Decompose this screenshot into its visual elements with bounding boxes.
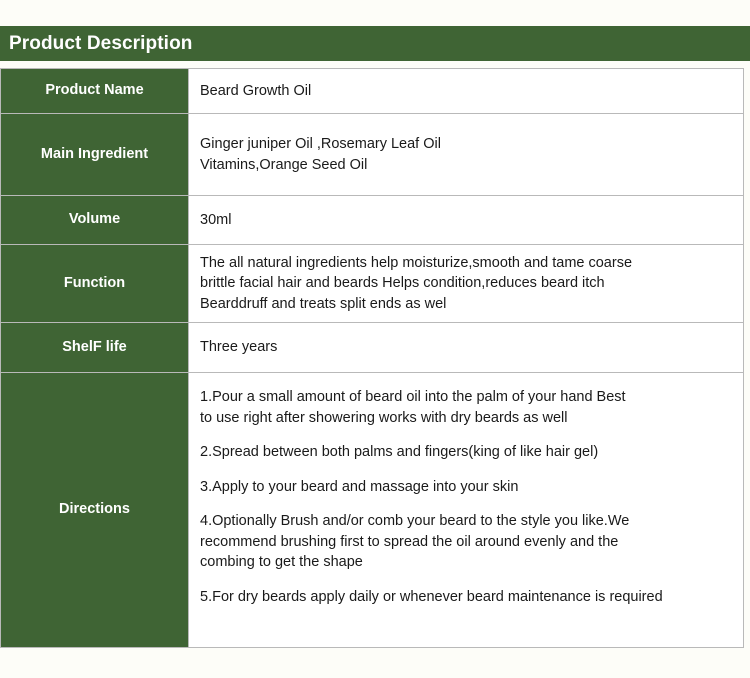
row-value-volume: 30ml bbox=[189, 196, 744, 245]
row-label-function: Function bbox=[1, 245, 189, 323]
direction-item: 3.Apply to your beard and massage into y… bbox=[200, 477, 743, 498]
value-text: 30ml bbox=[189, 204, 743, 237]
value-text: Beard Growth Oil bbox=[189, 75, 743, 108]
row-label-volume: Volume bbox=[1, 196, 189, 245]
label-text: Directions bbox=[1, 497, 188, 522]
row-value-main-ingredient: Ginger juniper Oil ,Rosemary Leaf Oil Vi… bbox=[189, 114, 744, 196]
row-value-product-name: Beard Growth Oil bbox=[189, 69, 744, 114]
row-label-main-ingredient: Main Ingredient bbox=[1, 114, 189, 196]
page-header-banner: Product Description bbox=[0, 26, 750, 61]
direction-item: 4.Optionally Brush and/or comb your bear… bbox=[200, 511, 743, 573]
table-row-shelf-life: ShelF life Three years bbox=[1, 323, 744, 373]
product-specification-table: Product Name Beard Growth Oil Main Ingre… bbox=[0, 68, 744, 648]
table-row-product-name: Product Name Beard Growth Oil bbox=[1, 69, 744, 114]
value-text: Ginger juniper Oil ,Rosemary Leaf Oil Vi… bbox=[189, 128, 743, 181]
row-label-directions: Directions bbox=[1, 373, 189, 648]
value-text: Three years bbox=[189, 331, 743, 364]
label-text: ShelF life bbox=[1, 335, 188, 360]
value-text: The all natural ingredients help moistur… bbox=[189, 247, 743, 321]
row-value-shelf-life: Three years bbox=[189, 323, 744, 373]
table-row-function: Function The all natural ingredients hel… bbox=[1, 245, 744, 323]
row-label-shelf-life: ShelF life bbox=[1, 323, 189, 373]
label-text: Main Ingredient bbox=[1, 142, 188, 167]
direction-item: 1.Pour a small amount of beard oil into … bbox=[200, 387, 743, 428]
table-row-directions: Directions 1.Pour a small amount of bear… bbox=[1, 373, 744, 648]
table-row-main-ingredient: Main Ingredient Ginger juniper Oil ,Rose… bbox=[1, 114, 744, 196]
direction-item: 5.For dry beards apply daily or whenever… bbox=[200, 587, 743, 608]
label-text: Volume bbox=[1, 207, 188, 232]
row-value-function: The all natural ingredients help moistur… bbox=[189, 245, 744, 323]
row-value-directions: 1.Pour a small amount of beard oil into … bbox=[189, 373, 744, 648]
page-title: Product Description bbox=[0, 34, 192, 53]
direction-item: 2.Spread between both palms and fingers(… bbox=[200, 442, 743, 463]
label-text: Product Name bbox=[1, 78, 188, 103]
directions-list: 1.Pour a small amount of beard oil into … bbox=[189, 373, 743, 614]
product-description-page: Product Description Product Name Beard G… bbox=[0, 0, 750, 678]
label-text: Function bbox=[1, 271, 188, 296]
table-body: Product Name Beard Growth Oil Main Ingre… bbox=[1, 69, 744, 648]
row-label-product-name: Product Name bbox=[1, 69, 189, 114]
table-row-volume: Volume 30ml bbox=[1, 196, 744, 245]
